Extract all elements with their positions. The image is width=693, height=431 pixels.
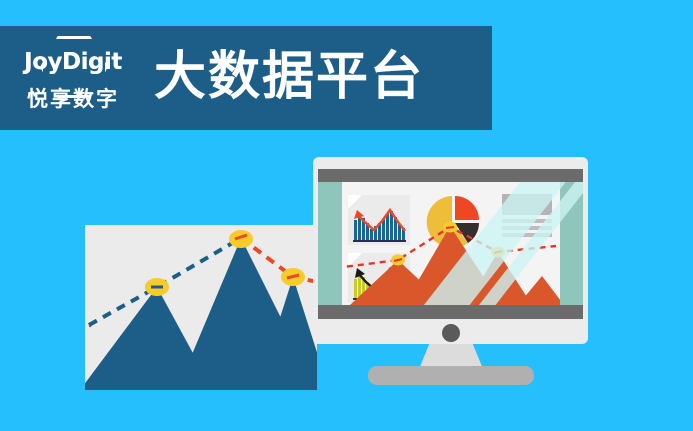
mountain-shape-far-right	[518, 276, 560, 305]
data-point-marker	[229, 230, 253, 248]
monitor-bezel-bottom	[318, 305, 583, 319]
monitor-screen	[318, 182, 583, 305]
background-mountain-chart	[85, 225, 317, 390]
poster-canvas: JoyDigit 悦享数字 大数据平台	[0, 0, 693, 431]
monitor-bezel-top	[318, 169, 583, 182]
logo-chinese-text: 悦享数字	[27, 89, 119, 110]
logo-english-text: JoyDigit	[24, 51, 122, 74]
monitor-stand-base	[368, 366, 534, 385]
background-chart-svg	[85, 225, 317, 390]
dashboard-viewport	[342, 182, 560, 305]
desktop-monitor	[313, 157, 588, 367]
page-title: 大数据平台	[154, 51, 424, 103]
pie-slice-red	[455, 196, 479, 220]
brand-logo: JoyDigit 悦享数字	[14, 32, 132, 124]
header-banner: JoyDigit 悦享数字 大数据平台	[0, 26, 492, 130]
image-placeholder	[502, 194, 552, 215]
foreground-mountain-chart	[342, 220, 560, 305]
marker-notch	[446, 227, 454, 228]
monitor-power-button[interactable]	[442, 324, 460, 342]
